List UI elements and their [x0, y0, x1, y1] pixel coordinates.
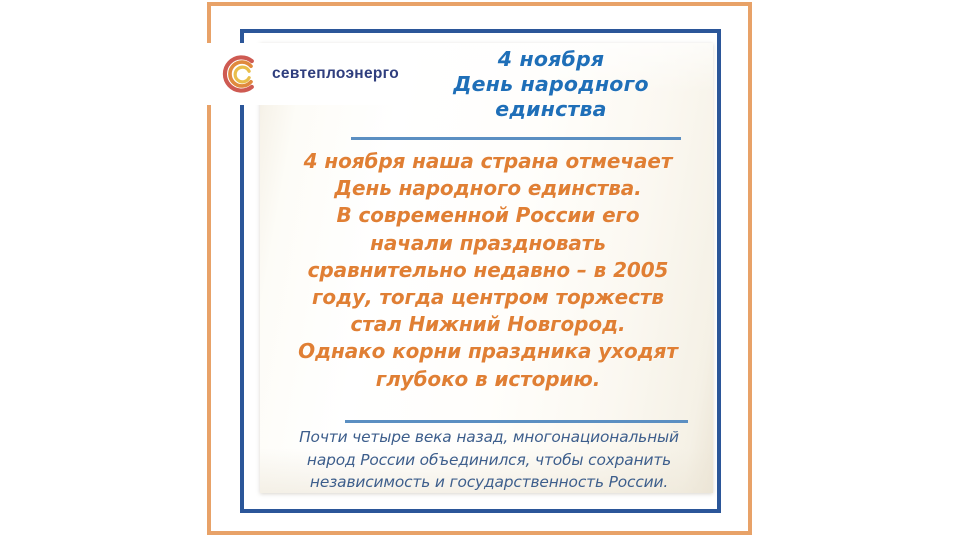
brand-name: севтеплоэнерго: [272, 65, 399, 83]
footnote-text: Почти четыре века назад, многонациональн…: [275, 426, 703, 494]
body-text: 4 ноября наша страна отмечает День народ…: [272, 148, 704, 393]
sevteploenergo-c-logo-icon: [216, 51, 262, 97]
footnote-line-3: независимость и государственность России…: [275, 471, 703, 494]
title-line-1: 4 ноября: [392, 47, 710, 72]
body-line-3: В современной России его: [272, 202, 704, 229]
body-line-2: День народного единства.: [272, 175, 704, 202]
body-line-6: году, тогда центром торжеств: [272, 284, 704, 311]
title-line-2: День народного: [392, 72, 710, 97]
title-line-3: единства: [392, 97, 710, 122]
divider-top: [351, 137, 681, 140]
footnote-line-1: Почти четыре века назад, многонациональн…: [275, 426, 703, 449]
body-line-9: глубоко в историю.: [272, 366, 704, 393]
body-line-8: Однако корни праздника уходят: [272, 338, 704, 365]
body-line-5: сравнительно недавно – в 2005: [272, 257, 704, 284]
divider-bottom: [345, 420, 688, 423]
page-title: 4 ноября День народного единства: [392, 47, 710, 122]
body-line-1: 4 ноября наша страна отмечает: [272, 148, 704, 175]
body-line-4: начали праздновать: [272, 230, 704, 257]
poster-canvas: 4 ноября День народного единства 4 ноябр…: [0, 0, 960, 540]
body-line-7: стал Нижний Новгород.: [272, 311, 704, 338]
brand-logo: севтеплоэнерго: [200, 43, 405, 105]
footnote-line-2: народ России объединился, чтобы сохранит…: [275, 449, 703, 472]
